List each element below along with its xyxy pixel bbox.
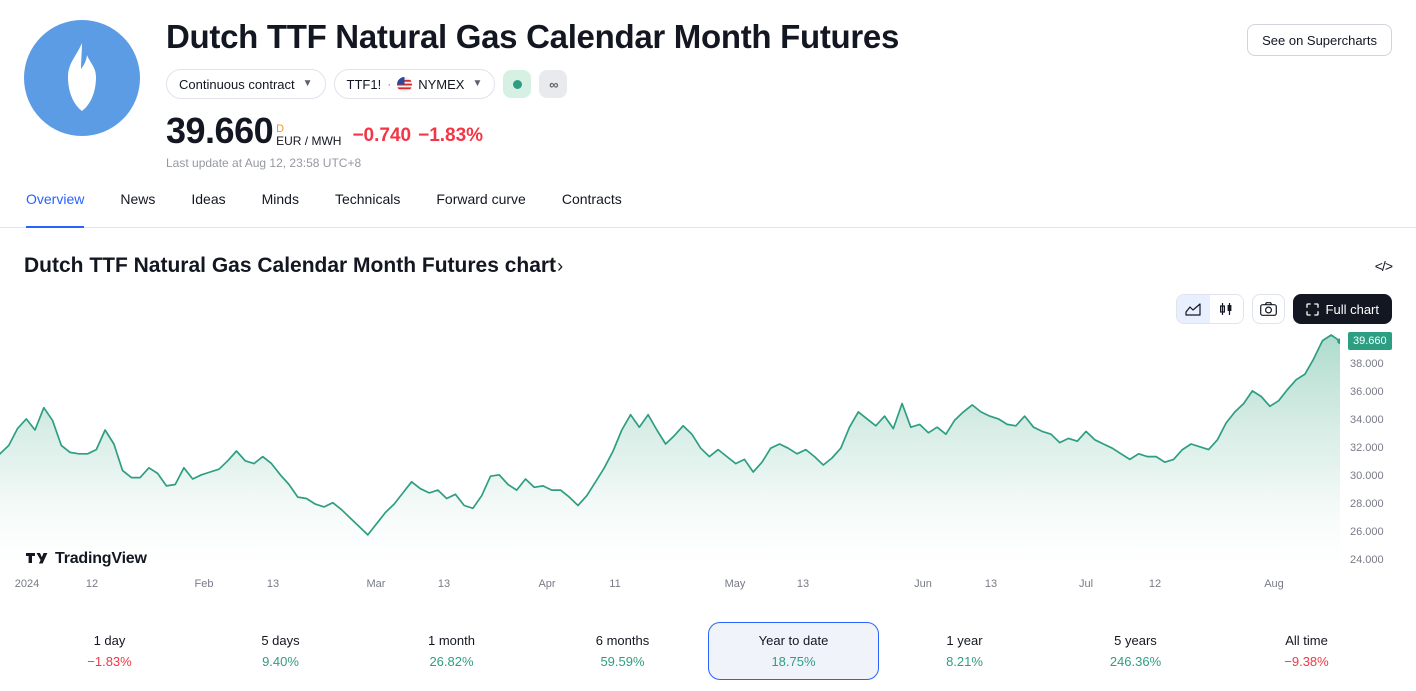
x-axis-tick-label: Apr <box>538 578 555 590</box>
y-axis-tick-label: 30.000 <box>1350 470 1384 482</box>
full-chart-label: Full chart <box>1326 302 1379 317</box>
period-label: 1 month <box>428 633 475 648</box>
chart-title-text: Dutch TTF Natural Gas Calendar Month Fut… <box>24 254 556 277</box>
period-value: 59.59% <box>600 654 644 669</box>
period-value: 18.75% <box>771 654 815 669</box>
period-value: 9.40% <box>262 654 299 669</box>
tab-contracts[interactable]: Contracts <box>544 192 640 227</box>
x-axis-tick-label: 13 <box>267 578 279 590</box>
period-value: 246.36% <box>1110 654 1161 669</box>
x-axis-tick-label: 13 <box>797 578 809 590</box>
price-chart[interactable]: 38.00036.00034.00032.00030.00028.00026.0… <box>0 328 1416 574</box>
tab-technicals[interactable]: Technicals <box>317 192 418 227</box>
period-label: 1 year <box>946 633 982 648</box>
flame-logo-circle <box>24 20 140 136</box>
tradingview-watermark: TradingView <box>26 550 147 568</box>
area-chart-icon <box>1185 303 1201 316</box>
period-1-day[interactable]: 1 day −1.83% <box>24 622 195 680</box>
x-axis-tick-label: Jul <box>1079 578 1093 590</box>
tab-overview[interactable]: Overview <box>24 192 102 227</box>
full-chart-button[interactable]: Full chart <box>1293 294 1392 324</box>
last-price: 39.660 <box>166 113 273 149</box>
tradingview-watermark-text: TradingView <box>55 550 147 568</box>
x-axis-tick-label: Jun <box>914 578 932 590</box>
period-value: 8.21% <box>946 654 983 669</box>
price-chart-svg <box>0 328 1340 574</box>
market-open-status-button[interactable] <box>503 70 531 98</box>
chevron-down-icon: ▼ <box>303 79 313 89</box>
y-axis-tick-label: 24.000 <box>1350 554 1384 566</box>
last-price-axis-badge: 39.660 <box>1348 332 1392 350</box>
x-axis-tick-label: May <box>725 578 746 590</box>
tradingview-logo-icon <box>26 553 48 566</box>
period-5-years[interactable]: 5 years 246.36% <box>1050 622 1221 680</box>
period-5-days[interactable]: 5 days 9.40% <box>195 622 366 680</box>
section-tabs: Overview News Ideas Minds Technicals For… <box>0 192 1416 228</box>
period-value: −1.83% <box>87 654 131 669</box>
y-axis: 38.00036.00034.00032.00030.00028.00026.0… <box>1336 328 1416 574</box>
period-all-time[interactable]: All time −9.38% <box>1221 622 1392 680</box>
period-1-month[interactable]: 1 month 26.82% <box>366 622 537 680</box>
continuous-futures-button[interactable]: ∞ <box>539 70 567 98</box>
x-axis-tick-label: Aug <box>1264 578 1284 590</box>
period-year-to-date[interactable]: Year to date 18.75% <box>708 622 879 680</box>
y-axis-tick-label: 38.000 <box>1350 358 1384 370</box>
period-label: 1 day <box>94 633 126 648</box>
period-performance-row: 1 day −1.83% 5 days 9.40% 1 month 26.82%… <box>0 606 1416 680</box>
green-dot-icon <box>513 80 522 89</box>
price-block: 39.660 D EUR / MWH −0.740 −1.83% <box>166 113 1392 149</box>
period-6-months[interactable]: 6 months 59.59% <box>537 622 708 680</box>
x-axis-tick-label: 13 <box>438 578 450 590</box>
y-axis-tick-label: 28.000 <box>1350 498 1384 510</box>
symbol-logo <box>24 14 150 170</box>
continuous-contract-label: Continuous contract <box>179 77 295 92</box>
symbol-exchange-dropdown[interactable]: TTF1! · NYMEX ▼ <box>334 69 496 99</box>
y-axis-tick-label: 32.000 <box>1350 442 1384 454</box>
chart-header: Dutch TTF Natural Gas Calendar Month Fut… <box>0 228 1416 278</box>
area-chart-style-button[interactable] <box>1177 295 1210 323</box>
period-value: 26.82% <box>429 654 473 669</box>
candlestick-chart-style-button[interactable] <box>1210 295 1243 323</box>
x-axis-tick-label: 11 <box>609 578 620 590</box>
y-axis-tick-label: 34.000 <box>1350 414 1384 426</box>
chevron-down-icon: ▼ <box>472 79 482 89</box>
see-on-supercharts-button[interactable]: See on Supercharts <box>1247 24 1392 56</box>
page-header: Dutch TTF Natural Gas Calendar Month Fut… <box>0 0 1416 170</box>
exchange-label: NYMEX <box>418 77 464 92</box>
x-axis-tick-label: 2024 <box>15 578 39 590</box>
tab-ideas[interactable]: Ideas <box>173 192 243 227</box>
x-axis-tick-label: Mar <box>367 578 386 590</box>
exchange-flag-icon <box>397 77 412 92</box>
period-label: All time <box>1285 633 1328 648</box>
price-change-absolute: −0.740 <box>352 125 411 147</box>
period-label: Year to date <box>759 633 829 648</box>
x-axis-tick-label: Feb <box>195 578 214 590</box>
symbol-meta-row: Continuous contract ▼ TTF1! · NYMEX ▼ <box>166 69 1392 99</box>
page-title: Dutch TTF Natural Gas Calendar Month Fut… <box>166 16 1392 58</box>
x-axis-tick-label: 13 <box>985 578 997 590</box>
last-update-text: Last update at Aug 12, 23:58 UTC+8 <box>166 156 1392 170</box>
y-axis-tick-label: 36.000 <box>1350 386 1384 398</box>
camera-icon <box>1260 302 1277 316</box>
price-change-percent: −1.83% <box>418 125 483 147</box>
tab-news[interactable]: News <box>102 192 173 227</box>
fullscreen-brackets-icon <box>1306 303 1319 316</box>
snapshot-button[interactable] <box>1252 294 1285 324</box>
candlestick-chart-icon <box>1218 302 1234 316</box>
code-embed-icon[interactable]: </> <box>1375 258 1392 274</box>
x-axis-tick-label: 12 <box>1149 578 1161 590</box>
currency-unit-label: EUR / MWH <box>276 135 341 148</box>
chart-toolbar: Full chart <box>0 278 1416 324</box>
y-axis-tick-label: 26.000 <box>1350 526 1384 538</box>
x-axis: 202412Feb13Mar13Apr11May13Jun13Jul12Aug <box>0 578 1416 600</box>
chart-title-link[interactable]: Dutch TTF Natural Gas Calendar Month Fut… <box>24 254 563 278</box>
price-unit-block: D EUR / MWH <box>276 124 341 148</box>
symbol-code-label: TTF1! <box>347 77 382 92</box>
tab-forward-curve[interactable]: Forward curve <box>418 192 543 227</box>
period-label: 5 years <box>1114 633 1157 648</box>
period-label: 5 days <box>261 633 299 648</box>
x-axis-tick-label: 12 <box>86 578 98 590</box>
tab-minds[interactable]: Minds <box>244 192 317 227</box>
period-label: 6 months <box>596 633 649 648</box>
separator-dot: · <box>387 77 391 91</box>
continuous-contract-dropdown[interactable]: Continuous contract ▼ <box>166 69 326 99</box>
chart-style-toggle-group <box>1176 294 1244 324</box>
flame-icon <box>54 41 110 115</box>
period-1-year[interactable]: 1 year 8.21% <box>879 622 1050 680</box>
infinity-icon: ∞ <box>549 77 557 92</box>
period-value: −9.38% <box>1284 654 1328 669</box>
chevron-right-icon: › <box>557 256 563 276</box>
header-main: Dutch TTF Natural Gas Calendar Month Fut… <box>150 14 1392 170</box>
